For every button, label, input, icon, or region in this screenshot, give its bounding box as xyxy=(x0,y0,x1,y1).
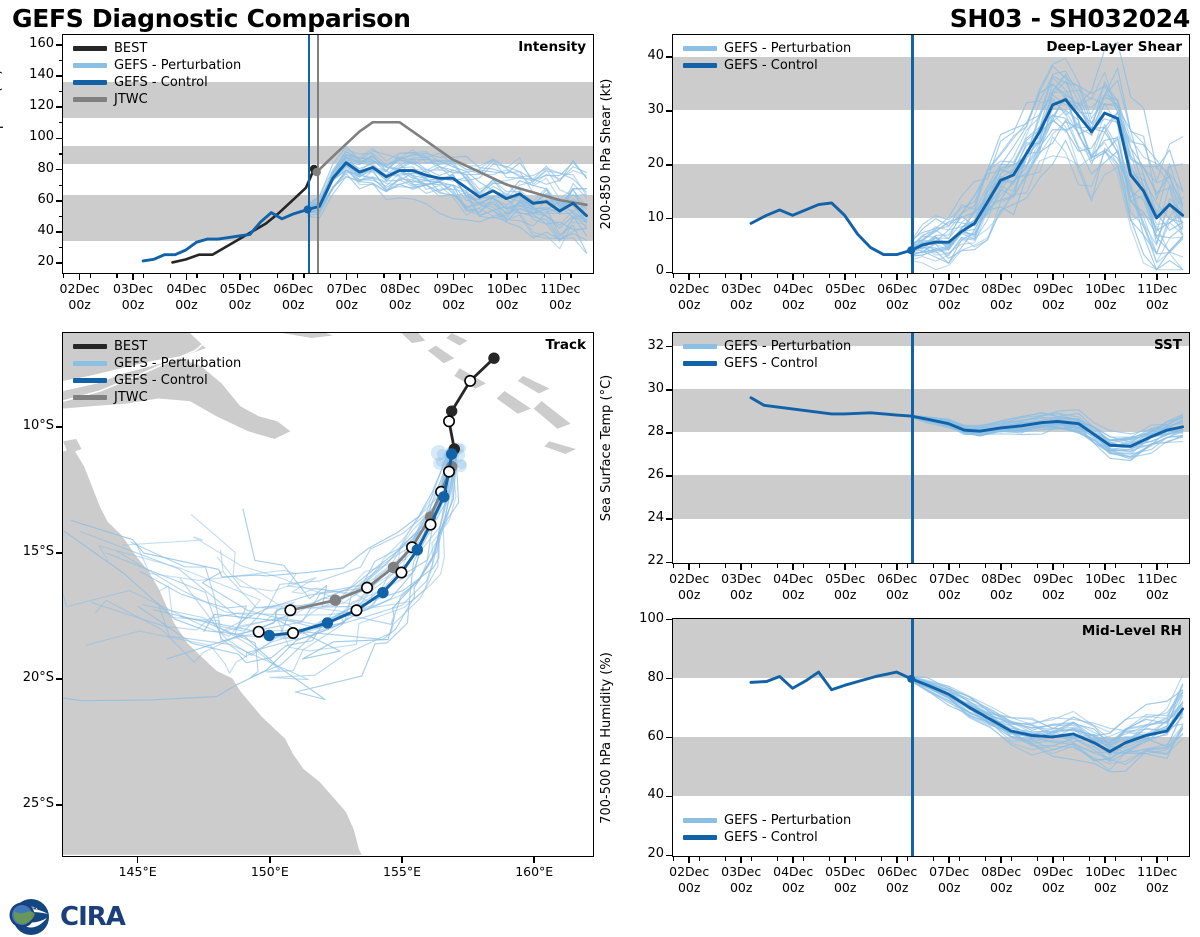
x-tick-mark-minor xyxy=(803,857,804,861)
x-tick-mark-minor xyxy=(1037,564,1038,568)
x-tick-mark-minor xyxy=(673,857,674,861)
x-tick-mark-minor xyxy=(1063,564,1064,568)
cira-logo-icon: CIRA xyxy=(8,897,100,933)
init-time-line xyxy=(317,35,319,273)
x-tick-mark xyxy=(132,274,134,280)
legend-swatch xyxy=(73,378,107,384)
y-tick-label: 60 xyxy=(620,729,664,744)
y-tick-label: 80 xyxy=(10,161,54,176)
legend-swatch xyxy=(73,344,107,350)
x-tick-mark-minor xyxy=(725,274,726,278)
x-tick-mark-minor xyxy=(959,857,960,861)
x-tick-mark-minor xyxy=(410,274,411,278)
x-tick-mark xyxy=(239,274,241,280)
y-tick-mark xyxy=(56,138,62,140)
x-tick-mark-minor xyxy=(881,564,882,568)
panel-title-shear: Deep-Layer Shear xyxy=(1046,39,1182,55)
y-tick-mark xyxy=(666,346,672,348)
x-tick-mark-minor xyxy=(223,274,224,278)
x-tick-mark xyxy=(79,274,81,280)
legend-label: GEFS - Control xyxy=(724,57,818,74)
y-tick-mark xyxy=(56,169,62,171)
x-tick-mark-minor xyxy=(829,274,830,278)
y-tick-label: 120 xyxy=(10,98,54,113)
x-tick-mark-minor xyxy=(544,274,545,278)
y-tick-mark xyxy=(56,75,62,77)
legend-swatch xyxy=(683,835,717,841)
legend-swatch xyxy=(73,80,107,86)
legend-label: GEFS - Perturbation xyxy=(114,355,241,372)
x-tick-mark-minor xyxy=(303,274,304,278)
y-tick-mark xyxy=(666,218,672,220)
legend-entry: GEFS - Control xyxy=(683,355,851,372)
y-axis-label-rh: 700-500 hPa Humidity (%) xyxy=(599,652,614,824)
legend-label: GEFS - Control xyxy=(114,372,208,389)
x-tick-mark xyxy=(1052,274,1054,280)
y-tick-mark xyxy=(666,518,672,520)
x-tick-mark-minor xyxy=(1115,564,1116,568)
y-tick-mark-minor xyxy=(59,247,63,248)
legend-label: GEFS - Control xyxy=(724,355,818,372)
legend-entry: GEFS - Perturbation xyxy=(683,40,851,57)
x-tick-mark-minor xyxy=(1063,274,1064,278)
x-tick-mark xyxy=(844,274,846,280)
y-axis-label-sst: Sea Surface Temp (°C) xyxy=(599,375,614,522)
x-tick-mark xyxy=(688,274,690,280)
x-tick-mark-minor xyxy=(1089,274,1090,278)
x-tick-label: 11Dec00z xyxy=(1121,571,1193,602)
x-tick-mark-minor xyxy=(330,274,331,278)
x-tick-mark xyxy=(560,274,562,280)
x-tick-mark-minor xyxy=(699,857,700,861)
legend-swatch xyxy=(73,395,107,401)
init-time-line xyxy=(308,35,311,273)
x-tick-mark xyxy=(292,274,294,280)
lon-tick-label: 155°E xyxy=(362,864,442,880)
y-tick-label: 0 xyxy=(620,263,664,278)
x-tick-mark xyxy=(792,857,794,863)
lat-tick-mark xyxy=(56,804,62,806)
x-tick-mark xyxy=(1104,274,1106,280)
y-tick-label: 30 xyxy=(620,102,664,117)
x-tick-mark xyxy=(1156,564,1158,570)
legend-swatch xyxy=(683,344,717,349)
y-tick-mark xyxy=(666,619,672,621)
y-tick-mark xyxy=(666,562,672,564)
x-tick-mark-minor xyxy=(777,564,778,568)
x-tick-mark-minor xyxy=(1167,564,1168,568)
y-tick-label: 32 xyxy=(620,338,664,353)
legend-entry: GEFS - Perturbation xyxy=(683,338,851,355)
y-tick-label: 40 xyxy=(620,48,664,63)
x-tick-mark-minor xyxy=(855,857,856,861)
legend-entry: GEFS - Perturbation xyxy=(73,57,241,74)
y-tick-mark xyxy=(56,262,62,264)
y-tick-mark xyxy=(666,272,672,274)
y-tick-mark xyxy=(666,56,672,58)
panel-title-intensity: Intensity xyxy=(518,39,586,55)
x-tick-mark xyxy=(1000,564,1002,570)
x-tick-mark-minor xyxy=(1063,857,1064,861)
x-tick-mark-minor xyxy=(881,274,882,278)
x-tick-mark xyxy=(740,564,742,570)
y-tick-label: 60 xyxy=(10,192,54,207)
panel-sst: SST GEFS - PerturbationGEFS - Control xyxy=(672,332,1190,564)
x-tick-mark xyxy=(740,274,742,280)
x-tick-mark-minor xyxy=(1167,857,1168,861)
x-tick-mark xyxy=(346,274,348,280)
panel-intensity: Intensity BESTGEFS - PerturbationGEFS - … xyxy=(62,34,594,274)
y-tick-label: 10 xyxy=(620,210,664,225)
x-tick-mark-minor xyxy=(437,274,438,278)
y-tick-label: 100 xyxy=(10,129,54,144)
y-tick-mark xyxy=(56,106,62,108)
x-tick-mark-minor xyxy=(751,564,752,568)
lon-tick-mark xyxy=(533,857,535,863)
legend-swatch xyxy=(73,63,107,68)
lat-tick-label: 25°S xyxy=(4,796,54,811)
legend-entry: JTWC xyxy=(73,389,241,406)
storm-id-title: SH03 - SH032024 xyxy=(950,4,1190,33)
y-tick-mark-minor xyxy=(59,216,63,217)
page-title: GEFS Diagnostic Comparison xyxy=(12,4,411,33)
x-tick-mark-minor xyxy=(1089,857,1090,861)
legend-swatch xyxy=(683,46,717,51)
panel-title-track: Track xyxy=(546,337,586,353)
x-tick-mark-minor xyxy=(1167,274,1168,278)
legend-sst: GEFS - PerturbationGEFS - Control xyxy=(683,338,851,372)
legend-entry: JTWC xyxy=(73,91,241,108)
y-tick-label: 24 xyxy=(620,510,664,525)
svg-text:CIRA: CIRA xyxy=(60,902,126,932)
legend-intensity: BESTGEFS - PerturbationGEFS - ControlJTW… xyxy=(73,40,241,108)
legend-swatch xyxy=(73,97,107,103)
y-tick-label: 160 xyxy=(10,36,54,51)
y-tick-label: 26 xyxy=(620,467,664,482)
x-tick-mark xyxy=(1052,564,1054,570)
lon-tick-label: 150°E xyxy=(230,864,310,880)
y-tick-label: 100 xyxy=(620,611,664,626)
x-tick-mark xyxy=(453,274,455,280)
legend-label: GEFS - Perturbation xyxy=(724,812,851,829)
x-tick-mark xyxy=(1000,857,1002,863)
x-tick-mark xyxy=(186,274,188,280)
y-tick-mark xyxy=(666,389,672,391)
x-tick-mark-minor xyxy=(673,274,674,278)
legend-entry: BEST xyxy=(73,40,241,57)
lat-tick-mark xyxy=(56,552,62,554)
x-tick-mark-minor xyxy=(464,274,465,278)
y-tick-mark xyxy=(666,796,672,798)
x-tick-mark xyxy=(1000,274,1002,280)
x-tick-mark-minor xyxy=(777,857,778,861)
legend-label: BEST xyxy=(114,338,147,355)
x-tick-mark xyxy=(506,274,508,280)
x-tick-mark xyxy=(792,564,794,570)
x-tick-mark xyxy=(688,857,690,863)
x-tick-mark-minor xyxy=(1141,564,1142,568)
x-tick-mark-minor xyxy=(777,274,778,278)
legend-entry: GEFS - Perturbation xyxy=(73,355,241,372)
x-tick-mark-minor xyxy=(250,274,251,278)
legend-label: GEFS - Control xyxy=(724,829,818,846)
panel-rh: Mid-Level RH GEFS - PerturbationGEFS - C… xyxy=(672,618,1190,857)
x-tick-mark-minor xyxy=(116,274,117,278)
x-tick-mark-minor xyxy=(907,274,908,278)
x-tick-mark-minor xyxy=(699,564,700,568)
x-tick-mark-minor xyxy=(699,274,700,278)
y-tick-mark xyxy=(666,164,672,166)
x-tick-mark-minor xyxy=(855,564,856,568)
x-tick-mark-minor xyxy=(277,274,278,278)
x-tick-mark-minor xyxy=(933,274,934,278)
y-tick-mark xyxy=(666,737,672,739)
lat-tick-label: 10°S xyxy=(4,418,54,433)
legend-label: GEFS - Perturbation xyxy=(724,40,851,57)
x-tick-mark-minor xyxy=(803,564,804,568)
legend-label: BEST xyxy=(114,40,147,57)
y-tick-mark xyxy=(56,231,62,233)
x-tick-mark-minor xyxy=(517,274,518,278)
track-plot xyxy=(63,333,592,855)
x-tick-mark xyxy=(948,274,950,280)
x-tick-mark-minor xyxy=(1115,857,1116,861)
figure-root: GEFS Diagnostic Comparison SH03 - SH0320… xyxy=(0,0,1200,900)
y-tick-label: 140 xyxy=(10,67,54,82)
x-tick-mark-minor xyxy=(1141,857,1142,861)
x-tick-mark-minor xyxy=(1141,274,1142,278)
x-tick-mark-minor xyxy=(1011,564,1012,568)
y-tick-mark-minor xyxy=(59,91,63,92)
x-tick-mark xyxy=(844,564,846,570)
x-tick-mark-minor xyxy=(985,857,986,861)
y-tick-mark-minor xyxy=(59,122,63,123)
x-tick-mark-minor xyxy=(803,274,804,278)
x-tick-mark-minor xyxy=(959,274,960,278)
x-tick-mark-minor xyxy=(959,564,960,568)
init-time-line xyxy=(911,35,914,273)
y-tick-mark xyxy=(56,44,62,46)
y-tick-label: 30 xyxy=(620,381,664,396)
legend-swatch xyxy=(683,63,717,69)
lon-tick-label: 145°E xyxy=(98,864,178,880)
x-tick-mark xyxy=(896,274,898,280)
x-tick-mark-minor xyxy=(985,564,986,568)
y-tick-mark xyxy=(666,110,672,112)
x-tick-mark xyxy=(1156,274,1158,280)
legend-shear: GEFS - PerturbationGEFS - Control xyxy=(683,40,851,74)
x-tick-label: 11Dec00z xyxy=(1121,864,1193,895)
x-tick-mark-minor xyxy=(751,274,752,278)
init-time-line xyxy=(911,333,914,563)
x-tick-mark-minor xyxy=(490,274,491,278)
x-tick-mark xyxy=(792,274,794,280)
x-tick-mark-minor xyxy=(1011,857,1012,861)
x-tick-mark-minor xyxy=(907,564,908,568)
x-tick-mark-minor xyxy=(63,274,64,278)
lat-tick-mark xyxy=(56,426,62,428)
x-tick-mark-minor xyxy=(1115,274,1116,278)
y-tick-label: 80 xyxy=(620,670,664,685)
x-tick-mark-minor xyxy=(751,857,752,861)
legend-entry: BEST xyxy=(73,338,241,355)
x-tick-mark-minor xyxy=(90,274,91,278)
y-tick-mark xyxy=(56,200,62,202)
x-tick-mark-minor xyxy=(170,274,171,278)
x-tick-label: 11Dec00z xyxy=(1121,281,1193,312)
legend-label: GEFS - Perturbation xyxy=(114,57,241,74)
y-tick-label: 40 xyxy=(10,223,54,238)
legend-entry: GEFS - Control xyxy=(73,74,241,91)
x-tick-mark-minor xyxy=(855,274,856,278)
x-tick-mark-minor xyxy=(673,564,674,568)
y-tick-label: 28 xyxy=(620,424,664,439)
x-tick-mark xyxy=(1104,564,1106,570)
y-tick-label: 22 xyxy=(620,553,664,568)
legend-entry: GEFS - Control xyxy=(73,372,241,389)
x-tick-mark xyxy=(896,857,898,863)
x-tick-mark-minor xyxy=(1089,564,1090,568)
lon-tick-mark xyxy=(269,857,271,863)
x-tick-mark-minor xyxy=(933,564,934,568)
legend-label: JTWC xyxy=(114,389,148,406)
lon-tick-mark xyxy=(401,857,403,863)
x-tick-mark-minor xyxy=(357,274,358,278)
legend-entry: GEFS - Perturbation xyxy=(683,812,851,829)
y-tick-label: 40 xyxy=(620,787,664,802)
x-tick-mark-minor xyxy=(1037,857,1038,861)
x-tick-mark-minor xyxy=(196,274,197,278)
panel-shear: Deep-Layer Shear GEFS - PerturbationGEFS… xyxy=(672,34,1190,274)
x-tick-mark-minor xyxy=(933,857,934,861)
x-tick-mark-minor xyxy=(829,564,830,568)
x-tick-mark-minor xyxy=(725,857,726,861)
legend-label: GEFS - Perturbation xyxy=(724,338,851,355)
x-tick-mark xyxy=(948,857,950,863)
lat-tick-label: 20°S xyxy=(4,670,54,685)
x-tick-mark-minor xyxy=(570,274,571,278)
x-tick-mark xyxy=(1156,857,1158,863)
y-tick-mark xyxy=(666,678,672,680)
x-tick-mark xyxy=(688,564,690,570)
legend-entry: GEFS - Control xyxy=(683,829,851,846)
y-tick-mark-minor xyxy=(59,60,63,61)
y-axis-label-intensity: 10m Max Wind Speed (kt) xyxy=(0,70,4,239)
x-tick-mark-minor xyxy=(143,274,144,278)
lon-tick-mark xyxy=(137,857,139,863)
y-tick-label: 20 xyxy=(10,254,54,269)
lon-tick-label: 160°E xyxy=(494,864,574,880)
legend-track: BESTGEFS - PerturbationGEFS - ControlJTW… xyxy=(73,338,241,406)
y-tick-mark-minor xyxy=(59,153,63,154)
y-axis-label-shear: 200-850 hPa Shear (kt) xyxy=(599,79,614,230)
init-time-line xyxy=(911,619,914,856)
legend-rh: GEFS - PerturbationGEFS - Control xyxy=(683,812,851,846)
x-tick-mark xyxy=(1052,857,1054,863)
x-tick-mark-minor xyxy=(907,857,908,861)
legend-entry: GEFS - Control xyxy=(683,57,851,74)
y-tick-mark-minor xyxy=(59,185,63,186)
x-tick-mark xyxy=(740,857,742,863)
x-tick-mark xyxy=(399,274,401,280)
legend-swatch xyxy=(683,818,717,823)
panel-track: Track BESTGEFS - PerturbationGEFS - Cont… xyxy=(62,332,594,857)
lat-tick-label: 15°S xyxy=(4,544,54,559)
y-tick-mark xyxy=(666,475,672,477)
legend-swatch xyxy=(683,361,717,367)
x-tick-mark xyxy=(1104,857,1106,863)
x-tick-label: 11Dec00z xyxy=(524,281,596,312)
y-tick-mark xyxy=(666,855,672,857)
legend-swatch xyxy=(73,361,107,366)
x-tick-mark xyxy=(948,564,950,570)
legend-label: JTWC xyxy=(114,91,148,108)
legend-swatch xyxy=(73,46,107,52)
x-tick-mark-minor xyxy=(383,274,384,278)
x-tick-mark xyxy=(844,857,846,863)
panel-title-rh: Mid-Level RH xyxy=(1082,623,1182,639)
x-tick-mark-minor xyxy=(725,564,726,568)
y-tick-mark xyxy=(666,432,672,434)
x-tick-mark xyxy=(896,564,898,570)
x-tick-mark-minor xyxy=(829,857,830,861)
x-tick-mark-minor xyxy=(1037,274,1038,278)
x-tick-mark-minor xyxy=(985,274,986,278)
x-tick-mark-minor xyxy=(1011,274,1012,278)
y-tick-label: 20 xyxy=(620,156,664,171)
panel-title-sst: SST xyxy=(1154,337,1182,353)
lat-tick-mark xyxy=(56,678,62,680)
legend-label: GEFS - Control xyxy=(114,74,208,91)
y-tick-label: 20 xyxy=(620,846,664,861)
x-tick-mark-minor xyxy=(881,857,882,861)
